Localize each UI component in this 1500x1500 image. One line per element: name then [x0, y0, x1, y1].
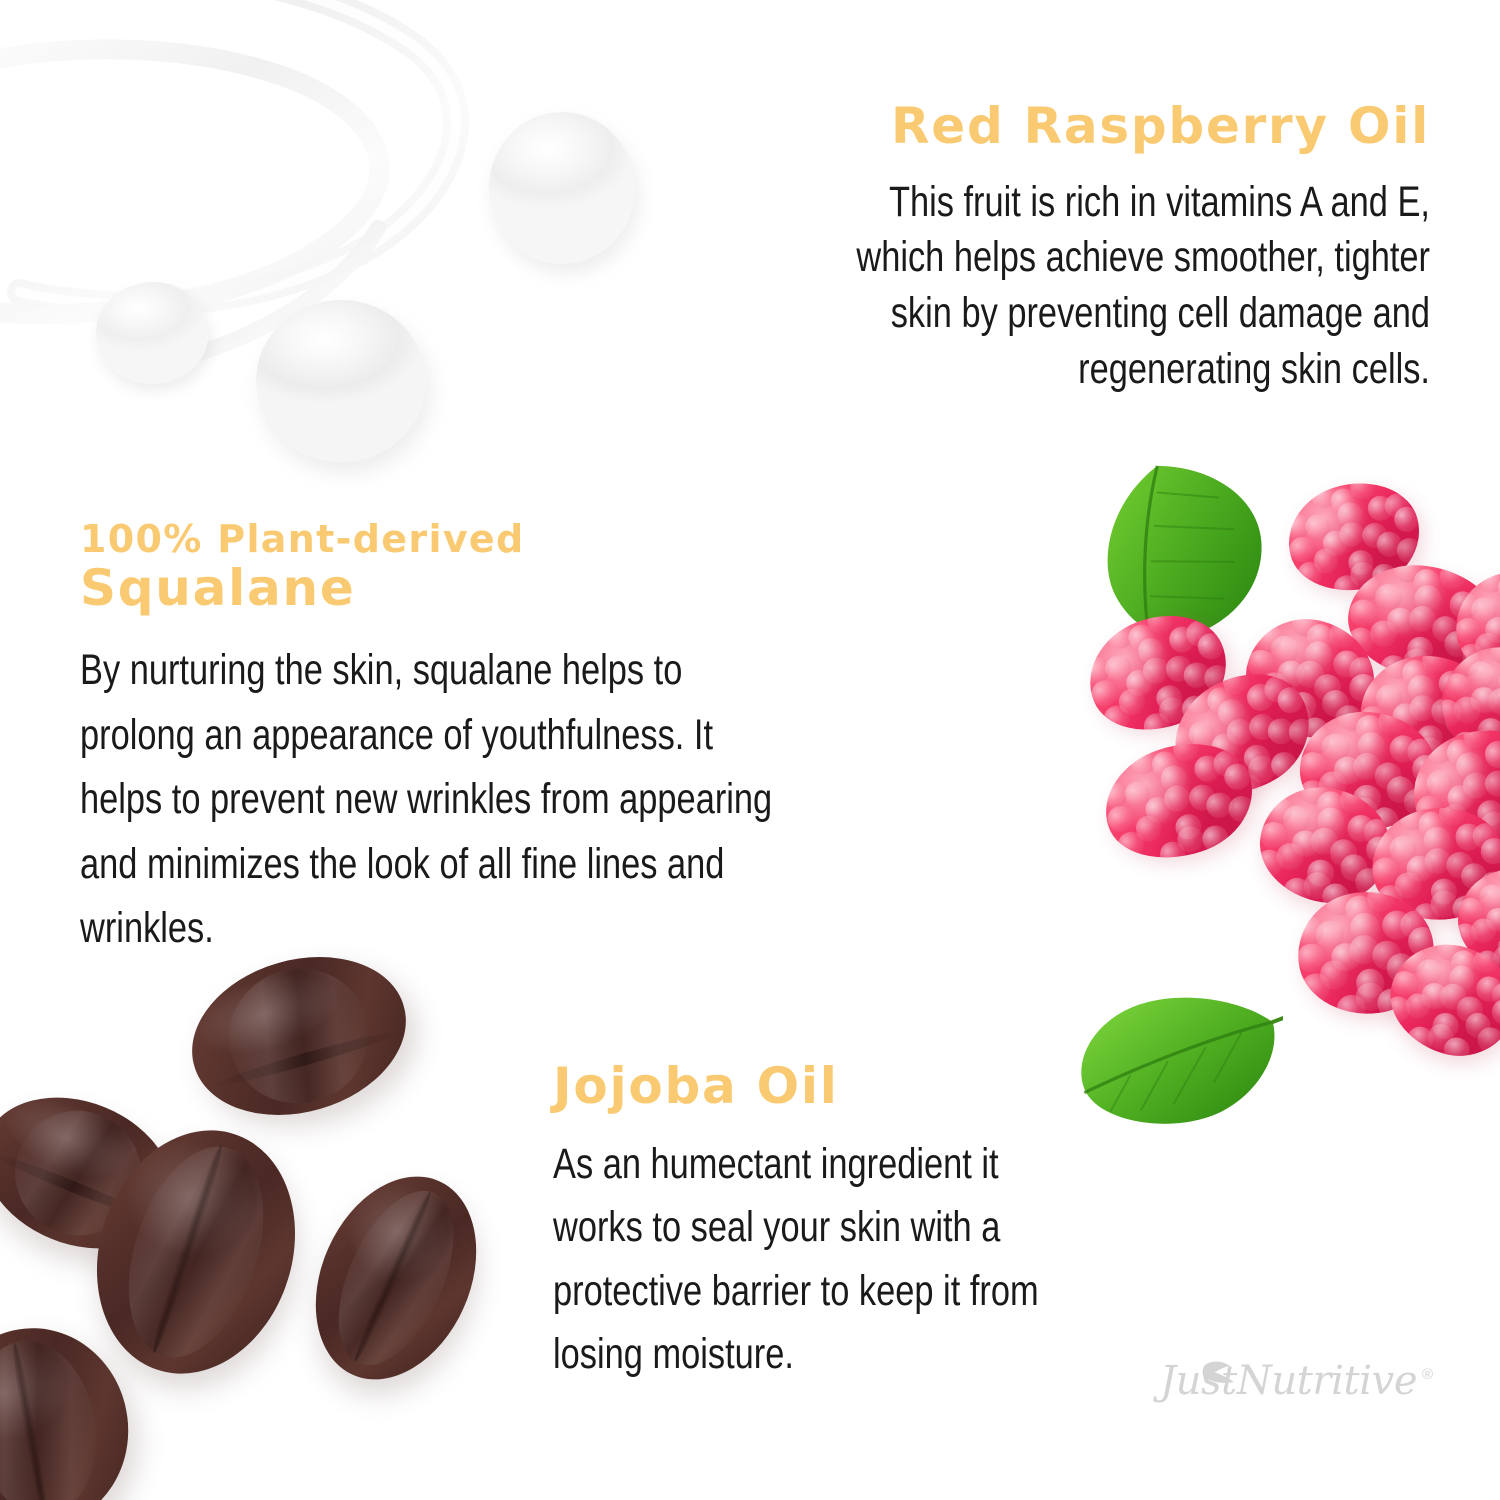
infographic-canvas: Red Raspberry Oil This fruit is rich in …	[0, 0, 1500, 1500]
squalane-heading-line-1: 100% Plant-derived	[80, 520, 960, 560]
registered-trademark-mark: ®	[1422, 1366, 1433, 1383]
jojoba-body: As an humectant ingredient it works to s…	[553, 1133, 1081, 1388]
section-jojoba: Jojoba Oil As an humectant ingredient it…	[553, 1060, 1213, 1387]
jojoba-heading: Jojoba Oil	[553, 1060, 1213, 1113]
jojoba-seed	[0, 1313, 144, 1500]
gel-droplet-large	[256, 300, 426, 462]
jojoba-seeds-art	[0, 950, 510, 1500]
jojoba-seed	[0, 1070, 195, 1275]
raspberry-cluster-art	[1060, 440, 1500, 1120]
brand-logo: JustNutritive ®	[1160, 1358, 1450, 1432]
red-raspberry-heading: Red Raspberry Oil	[640, 100, 1430, 153]
raspberry-leaf-upper	[1080, 448, 1290, 663]
section-red-raspberry: Red Raspberry Oil This fruit is rich in …	[640, 100, 1430, 398]
gel-droplet-medium	[489, 112, 635, 264]
jojoba-seed	[285, 1151, 506, 1405]
squalane-heading-line-2: Squalane	[80, 562, 960, 615]
squalane-body: By nurturing the skin, squalane helps to…	[80, 638, 784, 961]
gel-droplet-small	[96, 282, 208, 384]
jojoba-seed	[173, 933, 424, 1139]
logo-wordmark: JustNutritive	[1160, 1358, 1417, 1404]
red-raspberry-body: This fruit is rich in vitamins A and E, …	[798, 175, 1430, 399]
gel-swirl-art	[0, 0, 720, 495]
jojoba-seed	[66, 1104, 325, 1399]
section-squalane: 100% Plant-derived Squalane By nurturing…	[80, 520, 960, 961]
